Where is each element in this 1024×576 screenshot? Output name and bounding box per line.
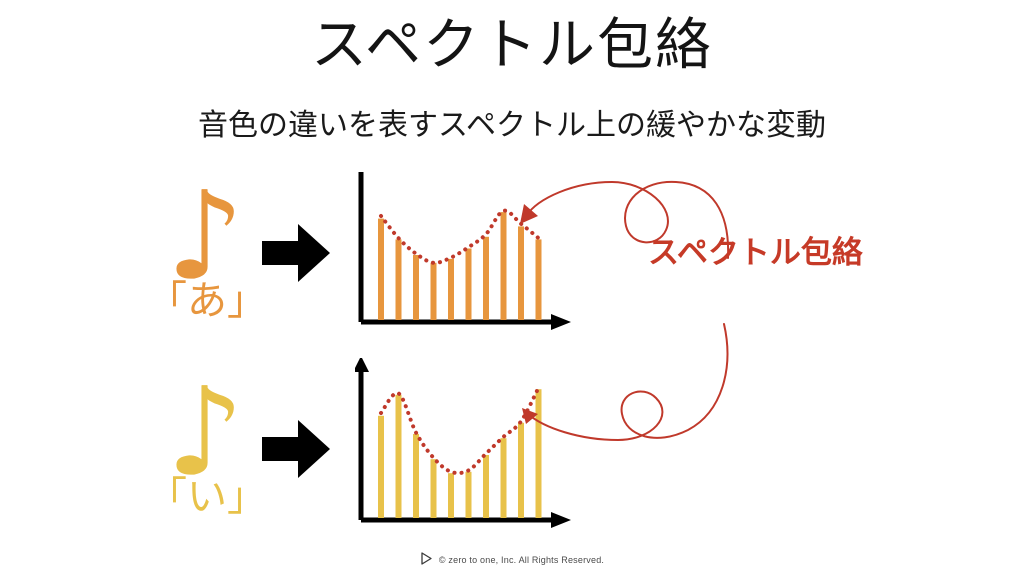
spectrum-bar [483, 237, 489, 320]
spectrum-bar [378, 219, 384, 320]
footer-copyright: © zero to one, Inc. All Rights Reserved. [439, 554, 604, 566]
spectrum-bar [431, 263, 437, 320]
spectrum-bar [396, 395, 402, 518]
spectrum-bar [483, 455, 489, 518]
callout-label: スペクトル包絡 [648, 236, 863, 270]
spectrum-bar [501, 438, 507, 518]
footer: © zero to one, Inc. All Rights Reserved. [0, 552, 1024, 568]
spectrum-bar [413, 255, 419, 320]
spectrum-bar [501, 212, 507, 320]
y-axis-arrowhead [355, 358, 369, 372]
spectrum-bar [431, 459, 437, 518]
arrowhead [522, 408, 538, 424]
note-label-i: 「い」 [132, 476, 282, 518]
spectrum-bar [396, 239, 402, 320]
spectrum-bar [448, 473, 454, 518]
page-subtitle: 音色の違いを表すスペクトル上の緩やかな変動 [0, 108, 1024, 144]
page-title: スペクトル包絡 [0, 14, 1024, 76]
eighth-note-icon: ♪ [128, 176, 282, 296]
slide-canvas: スペクトル包絡 音色の違いを表すスペクトル上の緩やかな変動 ♪ 「あ」 ♪ 「い… [0, 0, 1024, 576]
note-block-a: ♪ 「あ」 [132, 176, 282, 322]
eighth-note-icon: ♪ [128, 372, 282, 492]
curly-loop-arrow-icon [516, 318, 736, 453]
note-label-a: 「あ」 [132, 280, 282, 322]
spectrum-bar [466, 472, 472, 518]
right-arrow-icon [262, 418, 332, 485]
spectral-envelope-path [381, 211, 539, 263]
right-arrow-icon [262, 222, 332, 289]
spectrum-bar [378, 416, 384, 518]
spectrum-bar [466, 249, 472, 321]
note-block-i: ♪ 「い」 [132, 372, 282, 518]
spectral-envelope-path [381, 388, 539, 473]
spectrum-bar [413, 434, 419, 518]
x-axis-arrowhead [551, 512, 571, 528]
play-triangle-logo [420, 552, 433, 568]
envelope-curve [381, 211, 539, 263]
spectrum-bar [448, 259, 454, 320]
envelope-curve [381, 388, 539, 473]
